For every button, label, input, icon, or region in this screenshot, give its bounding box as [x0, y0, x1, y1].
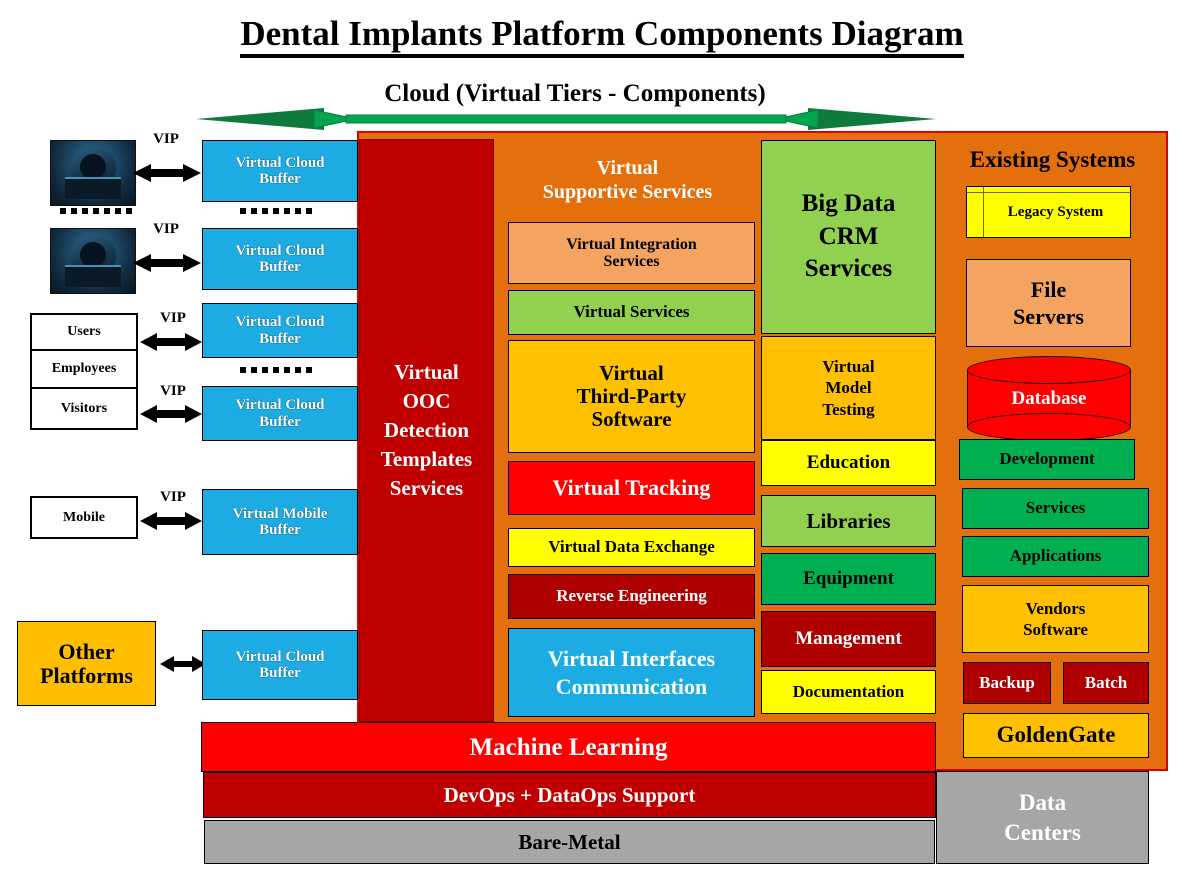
actor-mobile-box[interactable]: Mobile [30, 496, 138, 539]
buffer-3-line-2: Buffer [259, 331, 301, 347]
applications-label: Applications [1010, 547, 1102, 565]
diagram-canvas: Dental Implants Platform Components Diag… [0, 0, 1204, 896]
devops-label: DevOps + DataOps Support [444, 784, 696, 807]
backup-box[interactable]: Backup [963, 662, 1051, 704]
devops-dataops-bar[interactable]: DevOps + DataOps Support [203, 772, 936, 818]
buffer-2-line-2: Buffer [259, 259, 301, 275]
bigdata-line-1: Big Data [802, 188, 896, 221]
vip-arrow-2-icon [133, 252, 201, 274]
actor-users-box[interactable]: Users [30, 313, 138, 351]
hacker-illustration-1-icon [50, 140, 136, 206]
goldengate-label: GoldenGate [997, 723, 1116, 748]
bigdata-line-3: Services [805, 253, 892, 286]
interfaces-line-1: Virtual Interfaces [548, 645, 715, 673]
virtual-third-party-software-box[interactable]: Virtual Third-Party Software [508, 340, 755, 453]
other-platforms-arrow-icon [160, 653, 206, 675]
backup-label: Backup [979, 674, 1035, 692]
ooc-line-5: Services [390, 474, 463, 503]
goldengate-box[interactable]: GoldenGate [963, 713, 1149, 758]
vip-label-5: VIP [150, 489, 196, 506]
hacker-illustration-2-icon [50, 228, 136, 294]
integration-line-1: Virtual Integration [566, 236, 697, 253]
reverse-engineering-box[interactable]: Reverse Engineering [508, 574, 755, 619]
other-platforms-line-2: Platforms [40, 664, 133, 688]
model-testing-line-3: Testing [822, 399, 874, 420]
virtual-cloud-buffer-1[interactable]: Virtual Cloud Buffer [202, 140, 358, 202]
vendors-line-1: Vendors [1026, 598, 1086, 619]
vip-arrow-4-icon [140, 403, 202, 425]
model-testing-line-1: Virtual [822, 356, 874, 377]
legacy-table-header-bar [967, 187, 1130, 193]
other-platforms-box[interactable]: Other Platforms [17, 621, 156, 706]
buffer-5-line-1: Virtual Cloud [235, 649, 324, 665]
database-label: Database [967, 356, 1131, 441]
machine-learning-label: Machine Learning [470, 734, 668, 761]
batch-label: Batch [1085, 674, 1128, 692]
ellipsis-actors-1 [60, 208, 132, 214]
services-box[interactable]: Services [962, 488, 1149, 529]
supportive-title-line-2: Supportive Services [543, 180, 712, 204]
virtual-model-testing-box[interactable]: Virtual Model Testing [761, 336, 936, 440]
vip-label-4: VIP [150, 383, 196, 400]
mobile-buffer-line-1: Virtual Mobile [233, 506, 328, 522]
vip-arrow-1-icon [133, 162, 201, 184]
mobile-buffer-line-2: Buffer [259, 522, 301, 538]
virtual-supportive-services-title: Virtual Supportive Services [500, 146, 755, 214]
libraries-box[interactable]: Libraries [761, 495, 936, 547]
equipment-box[interactable]: Equipment [761, 553, 936, 605]
model-testing-line-2: Model [825, 377, 871, 398]
buffer-3-line-1: Virtual Cloud [235, 314, 324, 330]
vip-label-3: VIP [150, 310, 196, 327]
ellipsis-buffers-1 [240, 208, 312, 214]
vendors-line-2: Software [1023, 619, 1088, 640]
libraries-label: Libraries [807, 510, 891, 533]
legacy-system-box[interactable]: Legacy System [966, 186, 1131, 238]
thirdparty-line-2: Third-Party [577, 385, 687, 408]
batch-box[interactable]: Batch [1063, 662, 1149, 704]
buffer-4-line-1: Virtual Cloud [235, 397, 324, 413]
cloud-tier-title: Cloud (Virtual Tiers - Components) [0, 80, 1150, 108]
page-title-text: Dental Implants Platform Components Diag… [240, 14, 963, 58]
big-data-crm-services-box[interactable]: Big Data CRM Services [761, 140, 936, 334]
data-centers-line-1: Data [1019, 788, 1066, 818]
services-label: Services [1026, 499, 1085, 517]
virtual-ooc-detection-templates-services-block[interactable]: Virtual OOC Detection Templates Services [359, 139, 494, 722]
data-centers-box[interactable]: Data Centers [936, 771, 1149, 864]
virtual-integration-services-box[interactable]: Virtual Integration Services [508, 222, 755, 284]
virtual-interfaces-communication-box[interactable]: Virtual Interfaces Communication [508, 628, 755, 717]
buffer-5-line-2: Buffer [259, 665, 301, 681]
applications-box[interactable]: Applications [962, 536, 1149, 577]
vip-arrow-5-icon [140, 510, 202, 532]
documentation-label: Documentation [793, 683, 904, 701]
file-servers-line-2: Servers [1013, 303, 1084, 331]
virtual-data-exchange-box[interactable]: Virtual Data Exchange [508, 528, 755, 567]
education-box[interactable]: Education [761, 440, 936, 486]
data-centers-line-2: Centers [1004, 818, 1081, 848]
buffer-1-line-1: Virtual Cloud [235, 155, 324, 171]
existing-systems-title: Existing Systems [945, 144, 1160, 176]
legacy-system-label: Legacy System [994, 204, 1103, 220]
database-cylinder[interactable]: Database [967, 356, 1131, 441]
vip-arrow-3-icon [140, 331, 202, 353]
virtual-cloud-buffer-2[interactable]: Virtual Cloud Buffer [202, 228, 358, 290]
bigdata-line-2: CRM [819, 221, 879, 254]
management-label: Management [795, 629, 902, 650]
reverse-engineering-label: Reverse Engineering [556, 587, 707, 605]
other-platforms-line-1: Other [58, 640, 114, 664]
vip-label-2: VIP [143, 221, 189, 238]
management-box[interactable]: Management [761, 611, 936, 667]
ellipsis-buffers-2 [240, 367, 312, 373]
education-label: Education [807, 453, 890, 474]
virtual-mobile-buffer[interactable]: Virtual Mobile Buffer [202, 489, 358, 555]
virtual-cloud-buffer-4[interactable]: Virtual Cloud Buffer [202, 386, 358, 441]
double-arrow-horizontal-green-icon [196, 106, 936, 132]
ooc-line-1: Virtual [394, 358, 459, 387]
file-servers-box[interactable]: File Servers [966, 259, 1131, 347]
actor-employees-box[interactable]: Employees [30, 351, 138, 389]
equipment-label: Equipment [803, 569, 894, 590]
bare-metal-label: Bare-Metal [518, 831, 620, 854]
virtual-services-box[interactable]: Virtual Services [508, 290, 755, 335]
virtual-tracking-box[interactable]: Virtual Tracking [508, 461, 755, 515]
actor-employees-label: Employees [52, 361, 117, 376]
page-title: Dental Implants Platform Components Diag… [0, 14, 1204, 54]
thirdparty-line-1: Virtual [599, 362, 664, 385]
buffer-2-line-1: Virtual Cloud [235, 243, 324, 259]
documentation-box[interactable]: Documentation [761, 670, 936, 714]
development-box[interactable]: Development [959, 439, 1135, 480]
vendors-software-box[interactable]: Vendors Software [962, 585, 1149, 653]
buffer-4-line-2: Buffer [259, 414, 301, 430]
vip-label-1: VIP [143, 131, 189, 148]
actor-visitors-label: Visitors [61, 401, 107, 416]
bare-metal-bar[interactable]: Bare-Metal [204, 820, 935, 864]
development-label: Development [999, 450, 1094, 468]
buffer-1-line-2: Buffer [259, 171, 301, 187]
thirdparty-line-3: Software [591, 408, 671, 431]
virtual-cloud-buffer-3[interactable]: Virtual Cloud Buffer [202, 303, 358, 358]
ooc-line-3: Detection [384, 416, 469, 445]
interfaces-line-2: Communication [556, 673, 708, 701]
virtual-tracking-label: Virtual Tracking [553, 476, 711, 500]
actor-users-label: Users [67, 324, 100, 339]
file-servers-line-1: File [1031, 276, 1066, 304]
supportive-title-line-1: Virtual [597, 156, 658, 180]
ooc-line-4: Templates [381, 445, 472, 474]
ooc-line-2: OOC [403, 387, 451, 416]
actor-mobile-label: Mobile [63, 510, 105, 525]
virtual-services-label: Virtual Services [574, 303, 690, 321]
machine-learning-bar[interactable]: Machine Learning [201, 722, 936, 772]
integration-line-2: Services [604, 253, 660, 270]
virtual-cloud-buffer-5[interactable]: Virtual Cloud Buffer [202, 630, 358, 700]
virtual-data-exchange-label: Virtual Data Exchange [548, 538, 715, 556]
legacy-table-side-rule [983, 187, 984, 237]
actor-visitors-box[interactable]: Visitors [30, 389, 138, 430]
